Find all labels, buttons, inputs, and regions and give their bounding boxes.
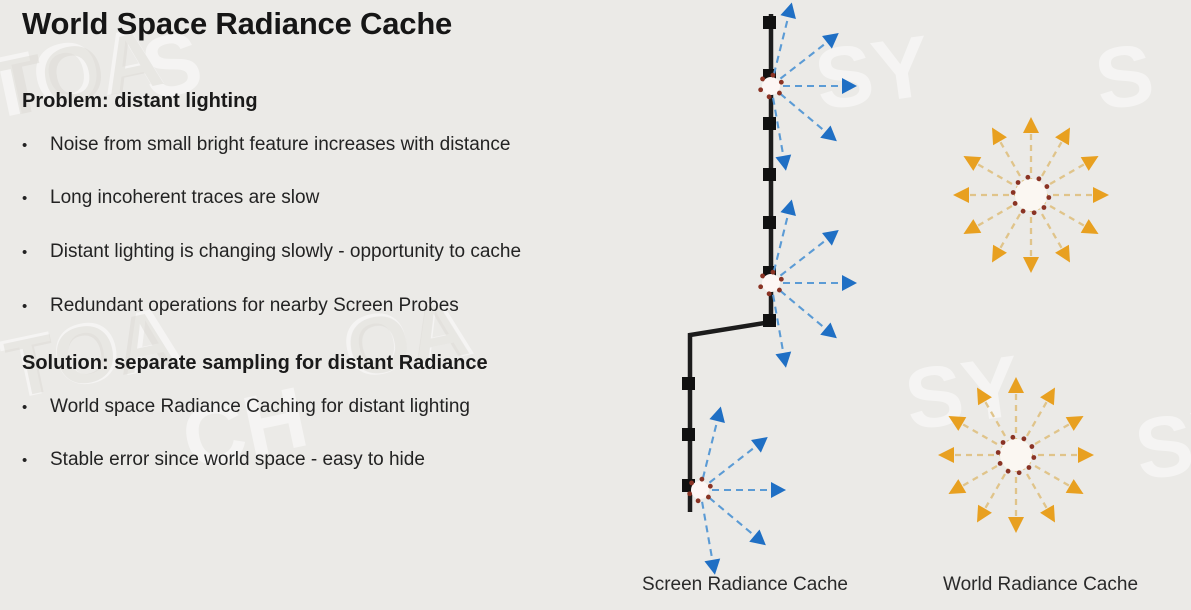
probe-center-dot: [767, 94, 772, 99]
probe-marker: [682, 428, 695, 441]
ray-arrowhead: [1040, 387, 1055, 405]
bullet-dot-icon: •: [22, 299, 50, 314]
ray-arrowhead: [1081, 156, 1099, 171]
probe-center-dot: [689, 481, 694, 486]
ray-arrowhead: [709, 407, 725, 423]
probe-center-dot: [996, 450, 1001, 455]
ray-arrowhead: [948, 416, 966, 431]
slide-text-column: World Space Radiance Cache Problem: dist…: [22, 6, 682, 502]
ray-arrowhead: [992, 127, 1007, 145]
probe-center-dot: [1036, 176, 1041, 181]
probe-marker: [763, 168, 776, 181]
probe-center-dot: [758, 284, 763, 289]
ray-arrowhead: [751, 437, 768, 453]
probe-marker: [763, 16, 776, 29]
list-item-label: Distant lighting is changing slowly - op…: [50, 240, 682, 264]
ray-arrowhead: [820, 126, 837, 142]
list-item-label: Redundant operations for nearby Screen P…: [50, 294, 682, 318]
probe-center-dot: [1031, 455, 1036, 460]
ray-arrowhead: [1040, 505, 1055, 523]
probe-center-dot: [1042, 205, 1047, 210]
diagram-svg: [600, 0, 1191, 610]
probe-center-dot: [700, 477, 705, 482]
screen-probe-markers: [682, 16, 776, 492]
probe-center-dot: [1017, 470, 1022, 475]
list-item-label: Long incoherent traces are slow: [50, 186, 682, 210]
ray-arrowhead: [820, 323, 837, 339]
probe-marker: [763, 117, 776, 130]
probe-center-dot: [777, 91, 782, 96]
probe-center-dot: [1027, 465, 1032, 470]
probe-center-dot: [1021, 436, 1026, 441]
page-title: World Space Radiance Cache: [22, 6, 682, 42]
probe-center-dot: [708, 484, 713, 489]
ray-arrowhead: [953, 187, 969, 203]
ray-arrowhead: [963, 156, 981, 171]
probe-center-dot: [771, 270, 776, 275]
probe-center-dot: [771, 73, 776, 78]
problem-heading: Problem: distant lighting: [22, 90, 682, 113]
probe-marker: [763, 314, 776, 327]
ray-arrowhead: [771, 482, 786, 498]
ray-arrowhead: [992, 245, 1007, 263]
bullet-dot-icon: •: [22, 191, 50, 206]
problem-section: Problem: distant lighting • Noise from s…: [22, 90, 682, 318]
ray-arrowhead: [780, 200, 796, 216]
probe-center-dot: [696, 498, 701, 503]
radiance-cache-diagram: [600, 0, 1191, 610]
ray-arrowhead: [1023, 117, 1039, 133]
ray-arrowhead: [938, 447, 954, 463]
probe-center-dot: [1010, 435, 1015, 440]
probe-center-dot: [1044, 184, 1049, 189]
ray-arrowhead: [948, 479, 966, 494]
list-item: • Long incoherent traces are slow: [22, 186, 682, 210]
ray-arrowhead: [842, 78, 857, 94]
ray-arrowhead: [977, 387, 992, 405]
probe-center-dot: [1011, 190, 1016, 195]
probe-center-dot: [767, 291, 772, 296]
ray-arrowhead: [1093, 187, 1109, 203]
ray-line: [700, 490, 712, 560]
probe-center-dot: [1029, 444, 1034, 449]
probe-center-dot: [706, 495, 711, 500]
probe-center-dot: [758, 87, 763, 92]
probe-center-dot: [1006, 469, 1011, 474]
diagram-caption-row: Screen Radiance Cache World Radiance Cac…: [600, 572, 1191, 606]
probe-center-dot: [779, 80, 784, 85]
ray-arrowhead: [775, 155, 791, 171]
slide-canvas: TOA S SY S TOA CH OA SY SY TOA TOA OA Wo…: [0, 0, 1191, 610]
ray-arrowhead: [1008, 517, 1024, 533]
list-item: • Redundant operations for nearby Screen…: [22, 294, 682, 318]
probe-center-dot: [687, 491, 692, 496]
probe-center-dot: [1025, 175, 1030, 180]
probe-center-dot: [1046, 195, 1051, 200]
bullet-dot-icon: •: [22, 453, 50, 468]
probe-marker: [682, 377, 695, 390]
list-item-label: World space Radiance Caching for distant…: [50, 395, 682, 419]
ray-arrowhead: [822, 230, 839, 246]
problem-bullet-list: • Noise from small bright feature increa…: [22, 133, 682, 318]
ray-arrowhead: [1055, 245, 1070, 263]
probe-center-dot: [1013, 201, 1018, 206]
ray-arrowhead: [963, 219, 981, 234]
ray-arrowhead: [1081, 219, 1099, 234]
probe-center-dot: [760, 274, 765, 279]
probe-center-dot: [777, 288, 782, 293]
list-item-label: Stable error since world space - easy to…: [50, 448, 682, 472]
ray-arrowhead: [749, 530, 766, 546]
ray-arrowhead: [842, 275, 857, 291]
ray-arrowhead: [1055, 127, 1070, 145]
solution-heading: Solution: separate sampling for distant …: [22, 352, 682, 375]
screen-cache-caption: Screen Radiance Cache: [600, 572, 890, 606]
world-radiance-rays: [938, 117, 1109, 533]
ray-arrowhead: [1008, 377, 1024, 393]
ray-arrowhead: [1023, 257, 1039, 273]
ray-arrowhead: [822, 33, 839, 49]
ray-arrowhead: [780, 3, 796, 19]
probe-center-dot: [779, 277, 784, 282]
probe-center-dot: [760, 77, 765, 82]
list-item-label: Noise from small bright feature increase…: [50, 133, 682, 157]
bullet-dot-icon: •: [22, 400, 50, 415]
ray-arrowhead: [977, 505, 992, 523]
probe-center-dot: [1001, 440, 1006, 445]
list-item: • Stable error since world space - easy …: [22, 448, 682, 472]
world-cache-caption: World Radiance Cache: [890, 572, 1191, 606]
solution-section: Solution: separate sampling for distant …: [22, 352, 682, 473]
list-item: • World space Radiance Caching for dista…: [22, 395, 682, 419]
ray-arrowhead: [1066, 479, 1084, 494]
probe-center-dot: [1032, 210, 1037, 215]
ray-arrowhead: [775, 352, 791, 368]
bullet-dot-icon: •: [22, 245, 50, 260]
list-item: • Distant lighting is changing slowly - …: [22, 240, 682, 264]
solution-bullet-list: • World space Radiance Caching for dista…: [22, 395, 682, 473]
screen-radiance-rays: [687, 3, 857, 575]
ray-arrowhead: [1078, 447, 1094, 463]
ray-arrowhead: [1066, 416, 1084, 431]
bullet-dot-icon: •: [22, 138, 50, 153]
probe-center-dot: [1016, 180, 1021, 185]
probe-center-dot: [998, 461, 1003, 466]
list-item: • Noise from small bright feature increa…: [22, 133, 682, 157]
probe-marker: [763, 216, 776, 229]
probe-center-dot: [1021, 209, 1026, 214]
